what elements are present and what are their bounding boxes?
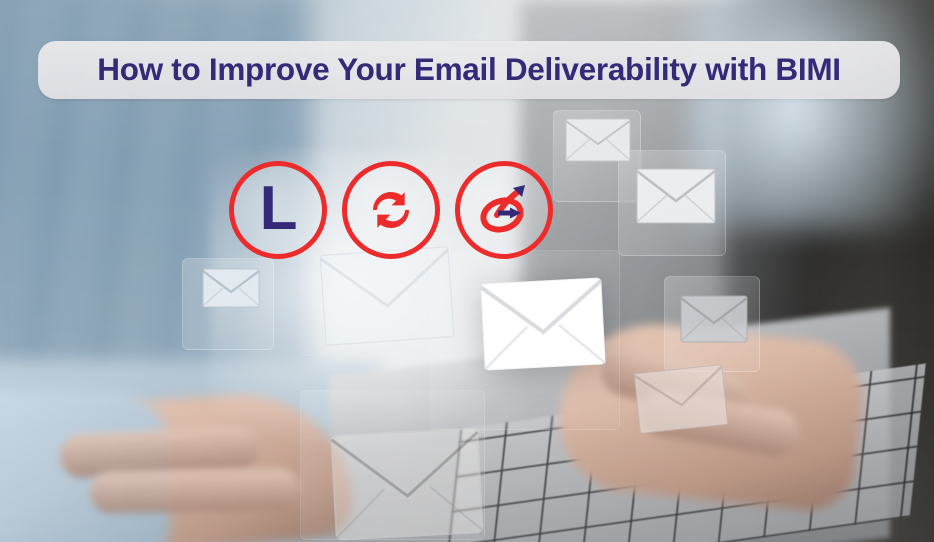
finger-4 (90, 468, 301, 514)
envelope-icon (319, 246, 455, 347)
letter-l-badge: L (229, 161, 327, 259)
hero-envelope-icon (480, 277, 606, 371)
growth-loop-badge (455, 161, 553, 259)
letter-l-icon: L (260, 178, 297, 240)
envelope-icon (329, 426, 484, 542)
envelope-icon (680, 295, 748, 343)
sync-badge (342, 161, 440, 259)
envelope-icon (565, 118, 631, 162)
refresh-sync-icon (360, 179, 422, 241)
banner-title-bar: How to Improve Your Email Deliverability… (38, 41, 900, 99)
envelope-icon (202, 268, 260, 308)
spiral-arrow-growth-icon (472, 178, 536, 242)
envelope-icon (636, 168, 716, 224)
envelope-icon (633, 363, 729, 434)
top-right-light-glow (690, 0, 934, 230)
page-title: How to Improve Your Email Deliverability… (97, 54, 840, 86)
bimi-email-deliverability-banner: L How to Improve Your Email Deliverabili… (0, 0, 934, 542)
